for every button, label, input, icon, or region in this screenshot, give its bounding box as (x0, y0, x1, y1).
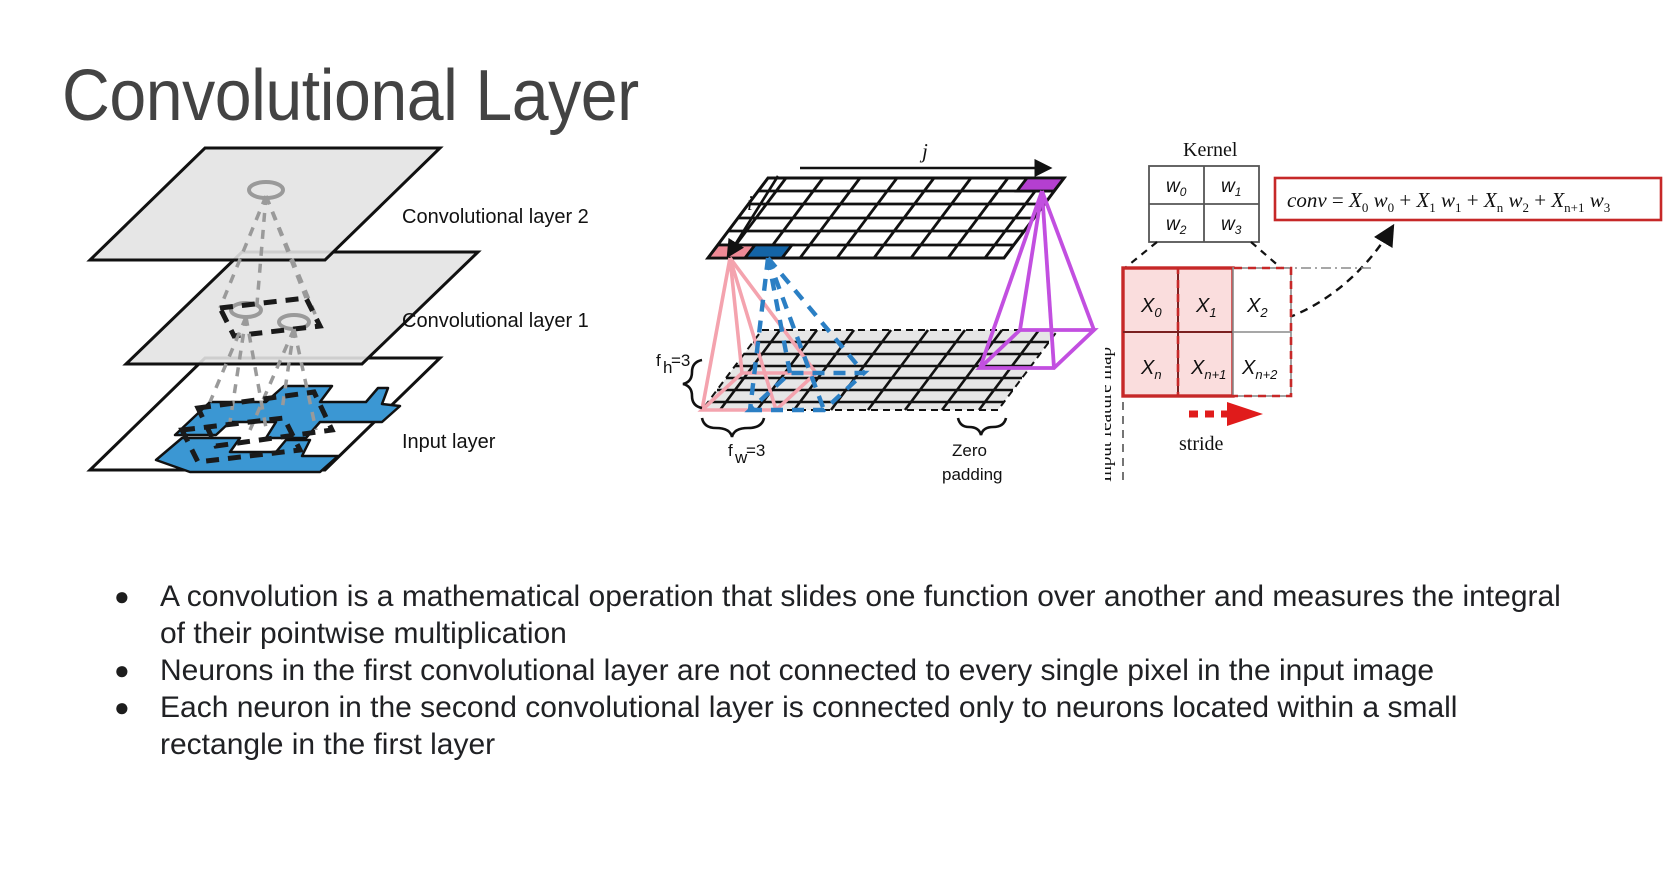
kernel-conv-svg: Kernel w0 w1 w2 w3 (1105, 130, 1665, 500)
svg-text:f: f (656, 351, 661, 370)
label-conv-layer-2: Convolutional layer 2 (402, 206, 589, 228)
kernel-table: w0 w1 w2 w3 (1149, 166, 1259, 242)
bullet-list: ● A convolution is a mathematical operat… (100, 578, 1580, 763)
output-cell-purple (1017, 178, 1064, 191)
list-item: ● Neurons in the first convolutional lay… (100, 652, 1580, 689)
figure-row: Convolutional layer 2 Convolutional laye… (0, 130, 1668, 510)
label-axis-j: j (919, 139, 928, 163)
page-title: Convolutional Layer (62, 60, 639, 132)
stride-label: stride (1179, 433, 1224, 455)
label-zero-padding-line2: padding (942, 465, 1003, 484)
receptive-field-zero-padding-diagram: j i f h =3 f w =3 (650, 130, 1120, 500)
label-filter-height: f h =3 (656, 351, 690, 377)
bullet-marker-icon: ● (100, 652, 160, 689)
conv-layer-1-plane (126, 252, 478, 364)
kernel-convolution-diagram: Kernel w0 w1 w2 w3 (1105, 130, 1665, 500)
svg-text:=3: =3 (746, 441, 765, 460)
label-zero-padding-line1: Zero (952, 441, 987, 460)
slide-canvas: Convolutional Layer (0, 0, 1668, 896)
label-axis-i: i (747, 191, 753, 215)
stride-arrow (1189, 402, 1263, 426)
feature-map-axis-label: Input feature map (1105, 347, 1116, 482)
output-cell-blue (745, 245, 792, 258)
kernel-title: Kernel (1183, 139, 1238, 161)
stacked-conv-layers-diagram: Convolutional layer 2 Convolutional laye… (70, 130, 630, 500)
label-input-layer: Input layer (402, 431, 496, 453)
label-filter-width: f w =3 (728, 441, 765, 467)
label-conv-layer-1: Convolutional layer 1 (402, 310, 589, 332)
list-item: ● Each neuron in the second convolutiona… (100, 689, 1580, 763)
bullet-text: A convolution is a mathematical operatio… (160, 578, 1580, 652)
bullet-marker-icon: ● (100, 689, 160, 726)
kernel-to-map-connectors (1125, 242, 1281, 268)
svg-text:=3: =3 (671, 351, 690, 370)
brace-filter-width (702, 418, 764, 437)
receptive-field-svg: j i f h =3 f w =3 (650, 130, 1120, 500)
bullet-text: Neurons in the first convolutional layer… (160, 652, 1580, 689)
svg-text:f: f (728, 441, 733, 460)
bullet-marker-icon: ● (100, 578, 160, 615)
bullet-text: Each neuron in the second convolutional … (160, 689, 1580, 763)
brace-zero-padding (958, 418, 1006, 435)
stacked-layers-svg: Convolutional layer 2 Convolutional laye… (70, 130, 630, 500)
list-item: ● A convolution is a mathematical operat… (100, 578, 1580, 652)
